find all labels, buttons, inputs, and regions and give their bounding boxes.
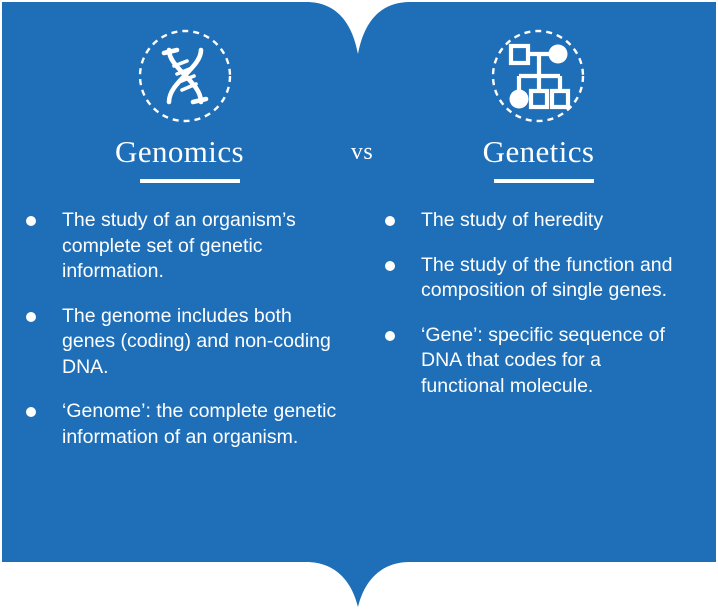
list-item-text: ‘Genome’: the complete genetic informati… — [62, 399, 348, 450]
bullet-dot-icon — [385, 216, 395, 226]
title-underline-genomics — [140, 179, 240, 183]
bullet-dot-icon — [26, 312, 36, 322]
column-genomics: Genomics The study of an organism’s comp… — [0, 0, 359, 610]
list-item-text: ‘Gene’: specific sequence of DNA that co… — [421, 323, 681, 400]
title-underline-genetics — [494, 179, 594, 183]
bullet-dot-icon — [26, 407, 36, 417]
bullet-list-genetics: The study of heredity The study of the f… — [381, 208, 681, 399]
list-item: The study of heredity — [381, 208, 681, 234]
list-item: ‘Gene’: specific sequence of DNA that co… — [381, 323, 681, 400]
dna-helix-icon — [137, 28, 233, 124]
bullet-dot-icon — [385, 261, 395, 271]
bullet-list-genomics: The study of an organism’s complete set … — [22, 208, 348, 450]
pedigree-chart-icon — [490, 28, 586, 124]
column-genetics: Genetics The study of heredity The study… — [359, 0, 718, 610]
list-item: The genome includes both genes (coding) … — [22, 304, 348, 381]
list-item-text: The study of heredity — [421, 208, 681, 234]
versus-label: vs — [0, 140, 718, 164]
list-item-text: The genome includes both genes (coding) … — [62, 304, 348, 381]
list-item: ‘Genome’: the complete genetic informati… — [22, 399, 348, 450]
bullet-dot-icon — [26, 216, 36, 226]
list-item-text: The study of the function and compositio… — [421, 253, 681, 304]
bullet-dot-icon — [385, 331, 395, 341]
list-item: The study of the function and compositio… — [381, 253, 681, 304]
list-item-text: The study of an organism’s complete set … — [62, 208, 348, 285]
list-item: The study of an organism’s complete set … — [22, 208, 348, 285]
comparison-infographic: Genomics The study of an organism’s comp… — [0, 0, 718, 610]
